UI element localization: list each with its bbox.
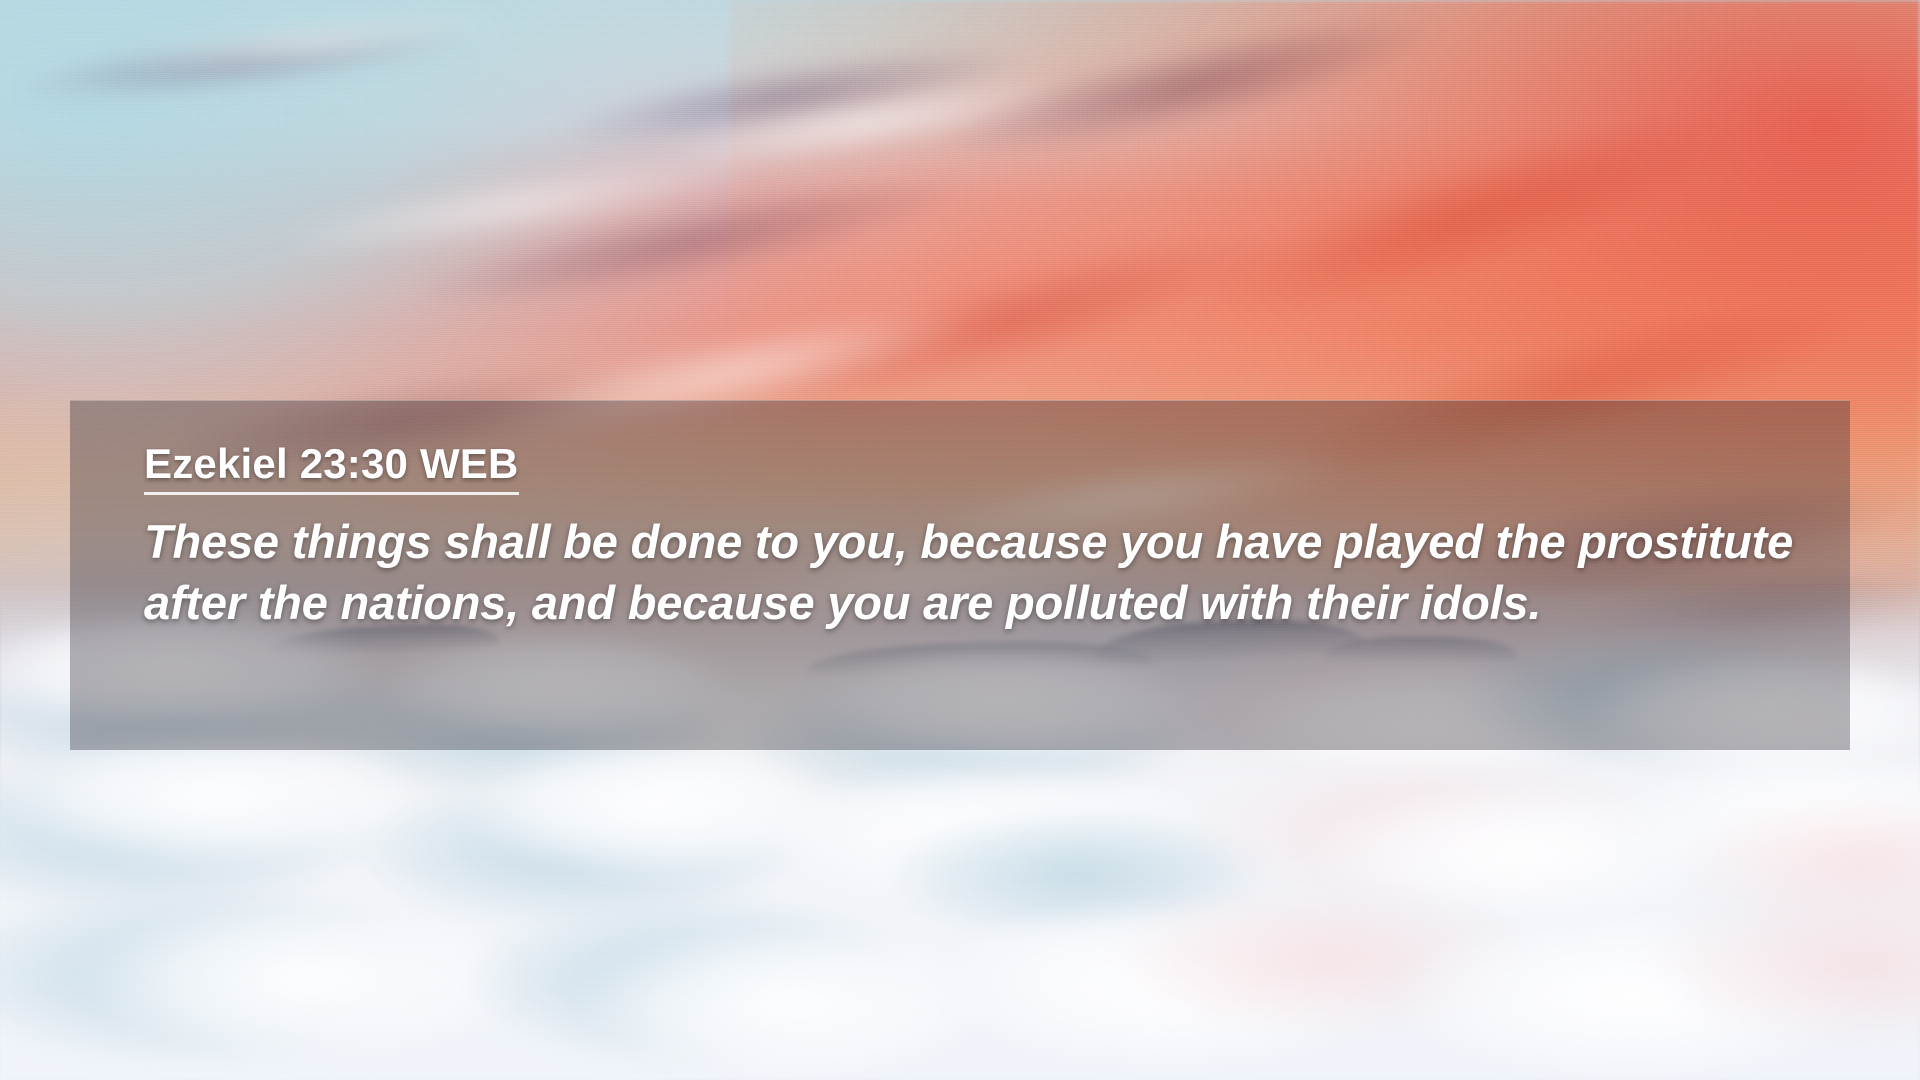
verse-image-canvas: Ezekiel 23:30 WEB These things shall be … (0, 0, 1920, 1080)
verse-text: These things shall be done to you, becau… (144, 511, 1804, 633)
verse-reference: Ezekiel 23:30 WEB (144, 441, 519, 495)
verse-overlay-panel: Ezekiel 23:30 WEB These things shall be … (70, 400, 1850, 750)
